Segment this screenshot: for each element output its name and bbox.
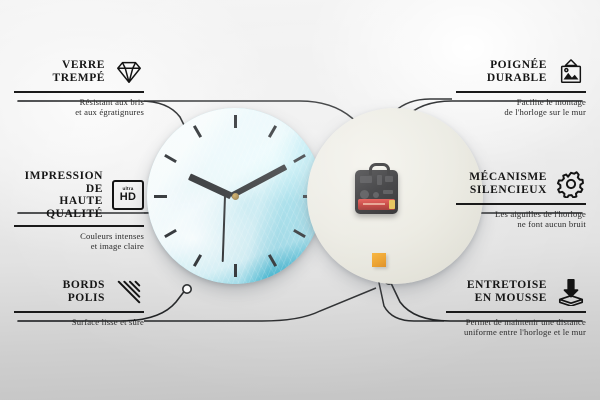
foam-spacer-icon [556, 278, 586, 306]
feature-title-line-2: DURABLE [456, 72, 547, 85]
feature-title-line-1: POIGNÉE [456, 59, 547, 72]
feature-title-line-2: EN MOUSSE [446, 292, 547, 305]
divider [14, 311, 144, 313]
feature-header: BORDS POLIS [14, 278, 144, 306]
feature-mecanisme-silencieux: MÉCANISME SILENCIEUX Les aiguilles de l'… [456, 170, 586, 229]
hour-tick [154, 195, 167, 198]
desc-line-2: et aux égratignures [14, 107, 144, 117]
desc-line-1: Résistant aux bris [14, 97, 144, 107]
desc-line-1: Couleurs intenses [14, 231, 144, 241]
desc-line-2: de l'horloge sur le mur [456, 107, 586, 117]
hour-tick [234, 115, 237, 128]
feature-verre-trempe: VERRE TREMPÉ Résistant aux bris et aux é… [14, 58, 144, 117]
feature-title-line-2: POLIS [63, 292, 105, 305]
divider [14, 91, 144, 93]
divider [446, 311, 586, 313]
feature-poignee-durable: POIGNÉE DURABLE Facilite le montage de l… [456, 58, 586, 117]
feature-description: Couleurs intenses et image claire [14, 231, 144, 252]
clock-mechanism [355, 170, 398, 214]
feature-title-line-2: SILENCIEUX [456, 184, 547, 197]
feature-title-line-1: VERRE [53, 59, 106, 72]
hanging-frame-icon [556, 58, 586, 86]
battery [358, 199, 395, 210]
feature-header: POIGNÉE DURABLE [456, 58, 586, 86]
desc-line-2: et image claire [14, 241, 144, 251]
clock-front-view [147, 108, 323, 284]
gear-icon [556, 170, 586, 198]
foam-spacer [372, 253, 386, 267]
desc-line-1: Surface lisse et sûre [14, 317, 144, 327]
mechanism-slot-a [360, 176, 372, 183]
feature-description: Les aiguilles de l'horloge ne font aucun… [456, 209, 586, 230]
mechanism-dial-left [360, 190, 369, 199]
desc-line-2: uniforme entre l'horloge et le mur [446, 327, 586, 337]
feature-description: Permet de maintenir une distance uniform… [446, 317, 586, 338]
desc-line-1: Les aiguilles de l'horloge [456, 209, 586, 219]
battery-stripe [363, 203, 385, 205]
infographic-canvas: VERRE TREMPÉ Résistant aux bris et aux é… [0, 0, 600, 400]
feature-title-line-2: TREMPÉ [53, 72, 106, 85]
feature-title-line-1: ENTRETOISE [446, 279, 547, 292]
polished-edges-icon [114, 278, 144, 306]
hanger-loop-icon [369, 163, 390, 175]
feature-entretoise-en-mousse: ENTRETOISE EN MOUSSE Permet de maintenir… [446, 278, 586, 337]
feature-description: Surface lisse et sûre [14, 317, 144, 327]
desc-line-1: Facilite le montage [456, 97, 586, 107]
connector-dot-bords [183, 285, 191, 293]
hd-label: HD [120, 192, 137, 203]
hour-tick [234, 264, 237, 277]
mechanism-slot-b [377, 175, 382, 185]
battery-terminal [389, 200, 395, 209]
mechanism-dial-mid [373, 192, 379, 198]
feature-impression-haute-qualite: IMPRESSION DE HAUTE QUALITÉ ultra HD Cou… [14, 170, 144, 252]
feature-description: Résistant aux bris et aux égratignures [14, 97, 144, 118]
desc-line-2: ne font aucun bruit [456, 219, 586, 229]
feature-header: ENTRETOISE EN MOUSSE [446, 278, 586, 306]
feature-header: IMPRESSION DE HAUTE QUALITÉ ultra HD [14, 170, 144, 220]
feature-description: Facilite le montage de l'horloge sur le … [456, 97, 586, 118]
divider [456, 91, 586, 93]
feature-header: MÉCANISME SILENCIEUX [456, 170, 586, 198]
ultra-hd-icon: ultra HD [112, 180, 144, 210]
clock-center-pivot [232, 193, 239, 200]
mechanism-slot-d [383, 190, 393, 194]
feature-title-line-1: BORDS [63, 279, 105, 292]
feature-bords-polis: BORDS POLIS Surface lisse et sûre [14, 278, 144, 327]
feature-title-line-2: HAUTE QUALITÉ [14, 195, 103, 220]
feature-title-line-1: IMPRESSION DE [14, 170, 103, 195]
feature-title-line-1: MÉCANISME [456, 171, 547, 184]
divider [456, 203, 586, 205]
feature-header: VERRE TREMPÉ [14, 58, 144, 86]
divider [14, 225, 144, 227]
desc-line-1: Permet de maintenir une distance [446, 317, 586, 327]
diamond-icon [114, 58, 144, 86]
mechanism-slot-c [385, 176, 393, 182]
